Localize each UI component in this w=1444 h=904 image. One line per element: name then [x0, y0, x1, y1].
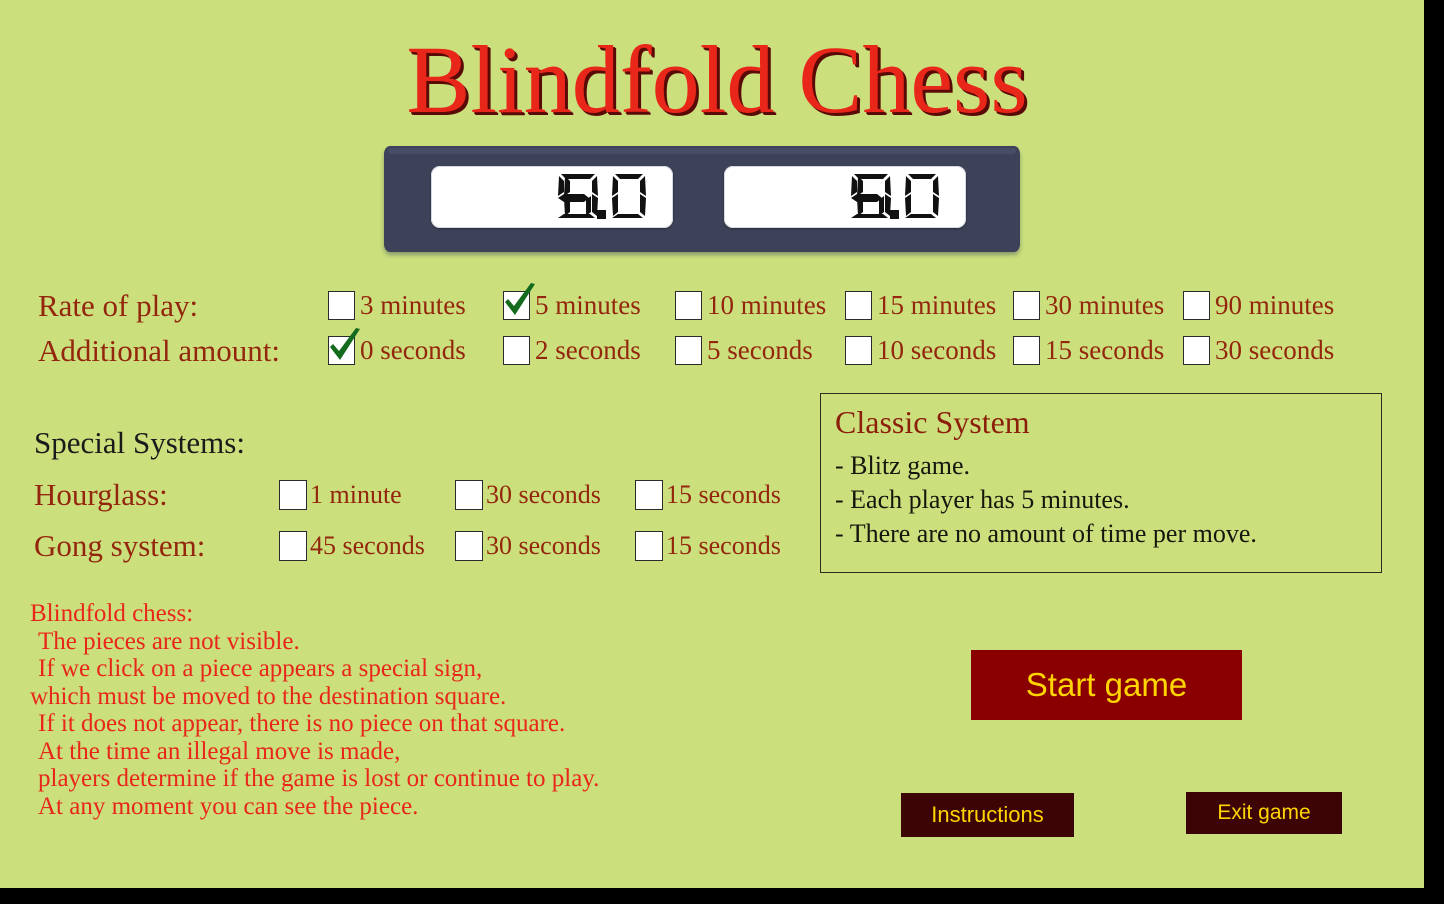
blindfold-chess-window: Blindfold Chess [0, 0, 1434, 896]
special-systems-section: Special Systems: Hourglass: 1 minute 30 … [34, 425, 824, 571]
checkbox-gong-15-seconds[interactable] [635, 531, 663, 561]
option-hourglass-15-seconds[interactable]: 15 seconds [635, 480, 795, 510]
gong-system-label: Gong system: [34, 528, 279, 564]
time-control-options: Rate of play: 3 minutes 5 minutes 10 min… [38, 283, 1408, 373]
option-label: 15 seconds [1040, 335, 1164, 366]
checkbox-add-30-seconds[interactable] [1183, 336, 1210, 365]
description-line: At any moment you can see the piece. [30, 793, 750, 821]
checkbox-hourglass-1-minute[interactable] [279, 480, 307, 510]
option-rate-5-minutes[interactable]: 5 minutes [503, 290, 675, 321]
additional-amount-label: Additional amount: [38, 333, 328, 369]
info-box-line: - There are no amount of time per move. [835, 519, 1381, 549]
checkbox-hourglass-30-seconds[interactable] [455, 480, 483, 510]
checkbox-add-10-seconds[interactable] [845, 336, 872, 365]
checkbox-rate-10-minutes[interactable] [675, 291, 702, 320]
window-edge-bottom [0, 888, 1434, 896]
description-line: If we click on a piece appears a special… [30, 655, 750, 683]
checkbox-gong-45-seconds[interactable] [279, 531, 307, 561]
option-label: 45 seconds [307, 531, 425, 561]
info-box-line: - Blitz game. [835, 451, 1381, 481]
checkbox-gong-30-seconds[interactable] [455, 531, 483, 561]
option-add-30-seconds[interactable]: 30 seconds [1183, 335, 1353, 366]
option-label: 30 seconds [483, 531, 601, 561]
option-label: 15 seconds [663, 531, 781, 561]
checkbox-rate-90-minutes[interactable] [1183, 291, 1210, 320]
description-line: Blindfold chess: [30, 600, 750, 628]
instructions-button[interactable]: Instructions [901, 793, 1074, 837]
rate-of-play-label: Rate of play: [38, 288, 328, 324]
checkbox-add-0-seconds[interactable] [328, 336, 355, 365]
option-rate-90-minutes[interactable]: 90 minutes [1183, 290, 1353, 321]
option-label: 15 seconds [663, 480, 781, 510]
description-line: If it does not appear, there is no piece… [30, 710, 750, 738]
description-line: The pieces are not visible. [30, 628, 750, 656]
option-label: 1 minute [307, 480, 402, 510]
option-rate-3-minutes[interactable]: 3 minutes [328, 290, 503, 321]
option-label: 5 seconds [702, 335, 813, 366]
rate-of-play-row: Rate of play: 3 minutes 5 minutes 10 min… [38, 283, 1408, 328]
checkbox-rate-5-minutes[interactable] [503, 291, 530, 320]
clock-display-white [431, 166, 673, 228]
start-game-button[interactable]: Start game [971, 650, 1242, 720]
option-add-5-seconds[interactable]: 5 seconds [675, 335, 845, 366]
option-label: 2 seconds [530, 335, 641, 366]
option-label: 30 seconds [1210, 335, 1334, 366]
info-box-heading: Classic System [835, 404, 1381, 441]
option-hourglass-1-minute[interactable]: 1 minute [279, 480, 455, 510]
description-line: At the time an illegal move is made, [30, 738, 750, 766]
option-label: 15 minutes [872, 290, 996, 321]
lcd-digit-right-tens [846, 172, 906, 222]
checkbox-add-15-seconds[interactable] [1013, 336, 1040, 365]
description-line: players determine if the game is lost or… [30, 765, 750, 793]
option-label: 30 minutes [1040, 290, 1164, 321]
option-gong-15-seconds[interactable]: 15 seconds [635, 531, 795, 561]
clock-display-black [724, 166, 966, 228]
lcd-digit-left-tens [553, 172, 613, 222]
option-label: 0 seconds [355, 335, 466, 366]
option-add-0-seconds[interactable]: 0 seconds [328, 335, 503, 366]
info-box-line: - Each player has 5 minutes. [835, 485, 1381, 515]
option-rate-15-minutes[interactable]: 15 minutes [845, 290, 1013, 321]
option-label: 90 minutes [1210, 290, 1334, 321]
exit-game-button[interactable]: Exit game [1186, 792, 1342, 834]
option-gong-30-seconds[interactable]: 30 seconds [455, 531, 635, 561]
window-edge-right [1424, 0, 1434, 896]
option-label: 10 minutes [702, 290, 826, 321]
classic-system-info-box: Classic System - Blitz game. - Each play… [820, 393, 1382, 573]
checkbox-add-2-seconds[interactable] [503, 336, 530, 365]
gong-system-row: Gong system: 45 seconds 30 seconds 15 se… [34, 520, 824, 571]
option-hourglass-30-seconds[interactable]: 30 seconds [455, 480, 635, 510]
special-systems-heading: Special Systems: [34, 425, 824, 461]
checkbox-add-5-seconds[interactable] [675, 336, 702, 365]
option-add-10-seconds[interactable]: 10 seconds [845, 335, 1013, 366]
hourglass-label: Hourglass: [34, 477, 279, 513]
option-label: 3 minutes [355, 290, 466, 321]
option-add-15-seconds[interactable]: 15 seconds [1013, 335, 1183, 366]
chess-clock [384, 146, 1020, 252]
option-label: 30 seconds [483, 480, 601, 510]
option-label: 5 minutes [530, 290, 641, 321]
option-gong-45-seconds[interactable]: 45 seconds [279, 531, 455, 561]
checkbox-rate-15-minutes[interactable] [845, 291, 872, 320]
page-title: Blindfold Chess [0, 32, 1434, 128]
checkbox-rate-3-minutes[interactable] [328, 291, 355, 320]
description-line: which must be moved to the destination s… [30, 683, 750, 711]
checkbox-hourglass-15-seconds[interactable] [635, 480, 663, 510]
hourglass-row: Hourglass: 1 minute 30 seconds 15 second… [34, 469, 824, 520]
option-rate-10-minutes[interactable]: 10 minutes [675, 290, 845, 321]
option-add-2-seconds[interactable]: 2 seconds [503, 335, 675, 366]
option-rate-30-minutes[interactable]: 30 minutes [1013, 290, 1183, 321]
checkbox-rate-30-minutes[interactable] [1013, 291, 1040, 320]
additional-amount-row: Additional amount: 0 seconds 2 seconds 5… [38, 328, 1408, 373]
option-label: 10 seconds [872, 335, 996, 366]
blindfold-description: Blindfold chess: The pieces are not visi… [30, 600, 750, 820]
